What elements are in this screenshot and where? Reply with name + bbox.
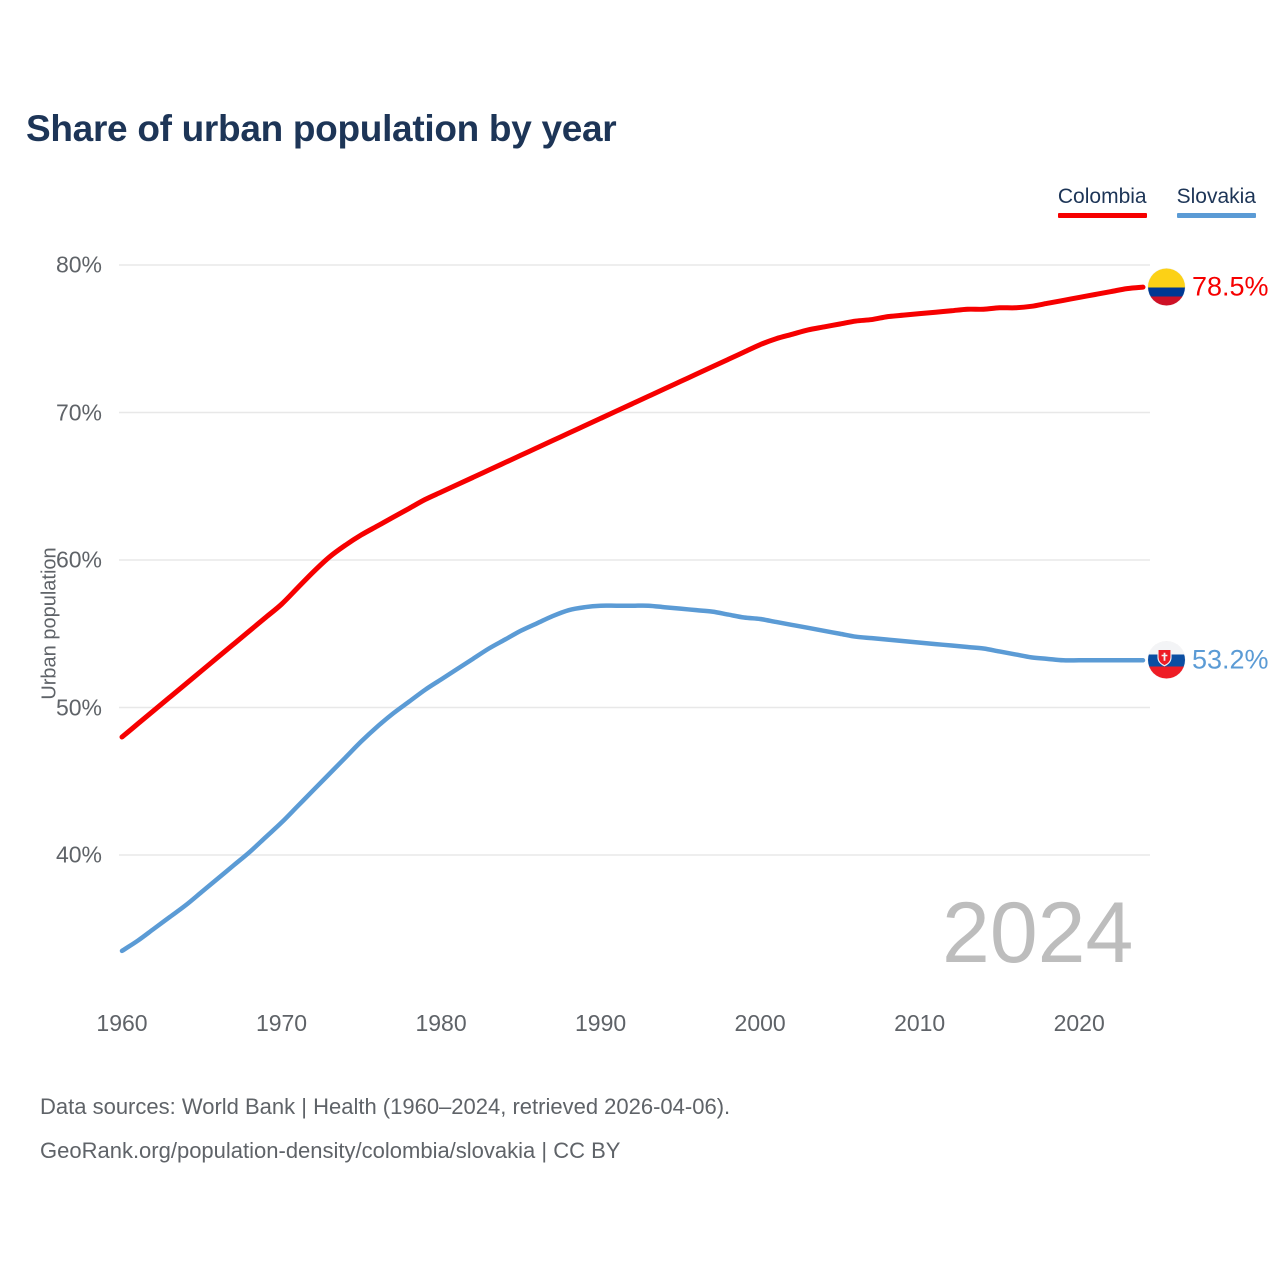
x-tick-1980: 1980: [386, 1010, 496, 1037]
slovakia-endpoint: 53.2%: [1148, 642, 1269, 679]
y-tick-80: 80%: [12, 252, 102, 279]
slovakia-shield-icon: [1157, 649, 1172, 667]
series-line-colombia: [122, 287, 1143, 737]
footer-line-1: Data sources: World Bank | Health (1960–…: [40, 1085, 730, 1129]
colombia-flag-icon: [1148, 269, 1185, 306]
colombia-endpoint-value: 78.5%: [1192, 272, 1269, 303]
year-watermark: 2024: [942, 884, 1133, 983]
x-tick-2010: 2010: [865, 1010, 975, 1037]
slovakia-endpoint-value: 53.2%: [1192, 645, 1269, 676]
footer-attribution: Data sources: World Bank | Health (1960–…: [40, 1085, 730, 1173]
y-tick-70: 70%: [12, 399, 102, 426]
slovakia-flag-icon: [1148, 642, 1185, 679]
x-tick-1960: 1960: [67, 1010, 177, 1037]
x-tick-1990: 1990: [546, 1010, 656, 1037]
y-tick-40: 40%: [12, 842, 102, 869]
y-axis-title: Urban population: [39, 547, 62, 699]
x-tick-2020: 2020: [1024, 1010, 1134, 1037]
x-tick-2000: 2000: [705, 1010, 815, 1037]
footer-line-2: GeoRank.org/population-density/colombia/…: [40, 1129, 730, 1173]
x-tick-1970: 1970: [227, 1010, 337, 1037]
chart-page: Share of urban population by year Colomb…: [0, 0, 1280, 1280]
colombia-endpoint: 78.5%: [1148, 269, 1269, 306]
